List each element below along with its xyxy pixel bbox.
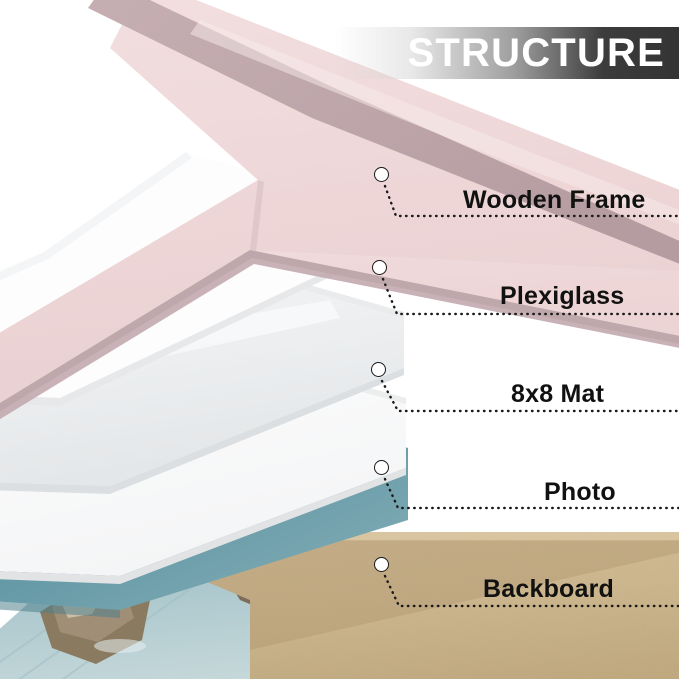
callout-label-wooden-frame: Wooden Frame [463,186,646,215]
callout-label-mat: 8x8 Mat [511,380,604,409]
marker-photo[interactable] [374,460,389,475]
marker-plexiglass[interactable] [372,260,387,275]
infographic-canvas: STRUCTURE Wooden Frame Plexiglass 8x8 Ma… [0,0,679,679]
callout-label-backboard: Backboard [483,575,614,604]
callout-label-plexiglass: Plexiglass [500,282,624,311]
marker-backboard[interactable] [374,557,389,572]
callout-label-photo: Photo [544,478,616,507]
structure-banner: STRUCTURE [335,27,679,79]
marker-wooden-frame[interactable] [374,167,389,182]
banner-title: STRUCTURE [408,33,679,73]
marker-mat[interactable] [371,362,386,377]
